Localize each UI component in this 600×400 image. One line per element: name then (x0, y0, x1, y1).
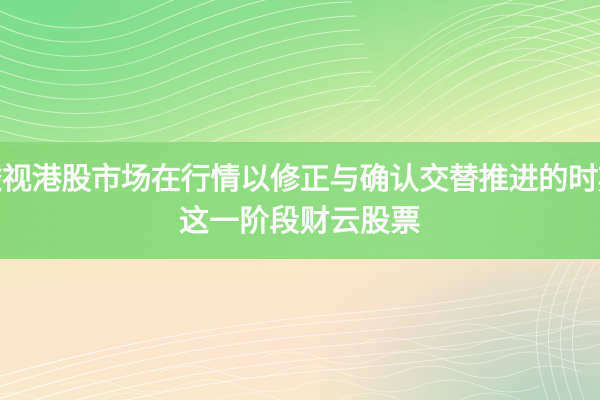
headline-band: 透视港股市场在行情以修正与确认交替推进的时期 这一阶段财云股票 (0, 142, 600, 259)
page-title: 透视港股市场在行情以修正与确认交替推进的时期 这一阶段财云股票 (0, 159, 600, 243)
headline-line-1: 透视港股市场在行情以修正与确认交替推进的时期 (0, 159, 600, 201)
article-banner: 透视港股市场在行情以修正与确认交替推进的时期 这一阶段财云股票 (0, 0, 600, 400)
headline-line-2: 这一阶段财云股票 (0, 201, 600, 243)
